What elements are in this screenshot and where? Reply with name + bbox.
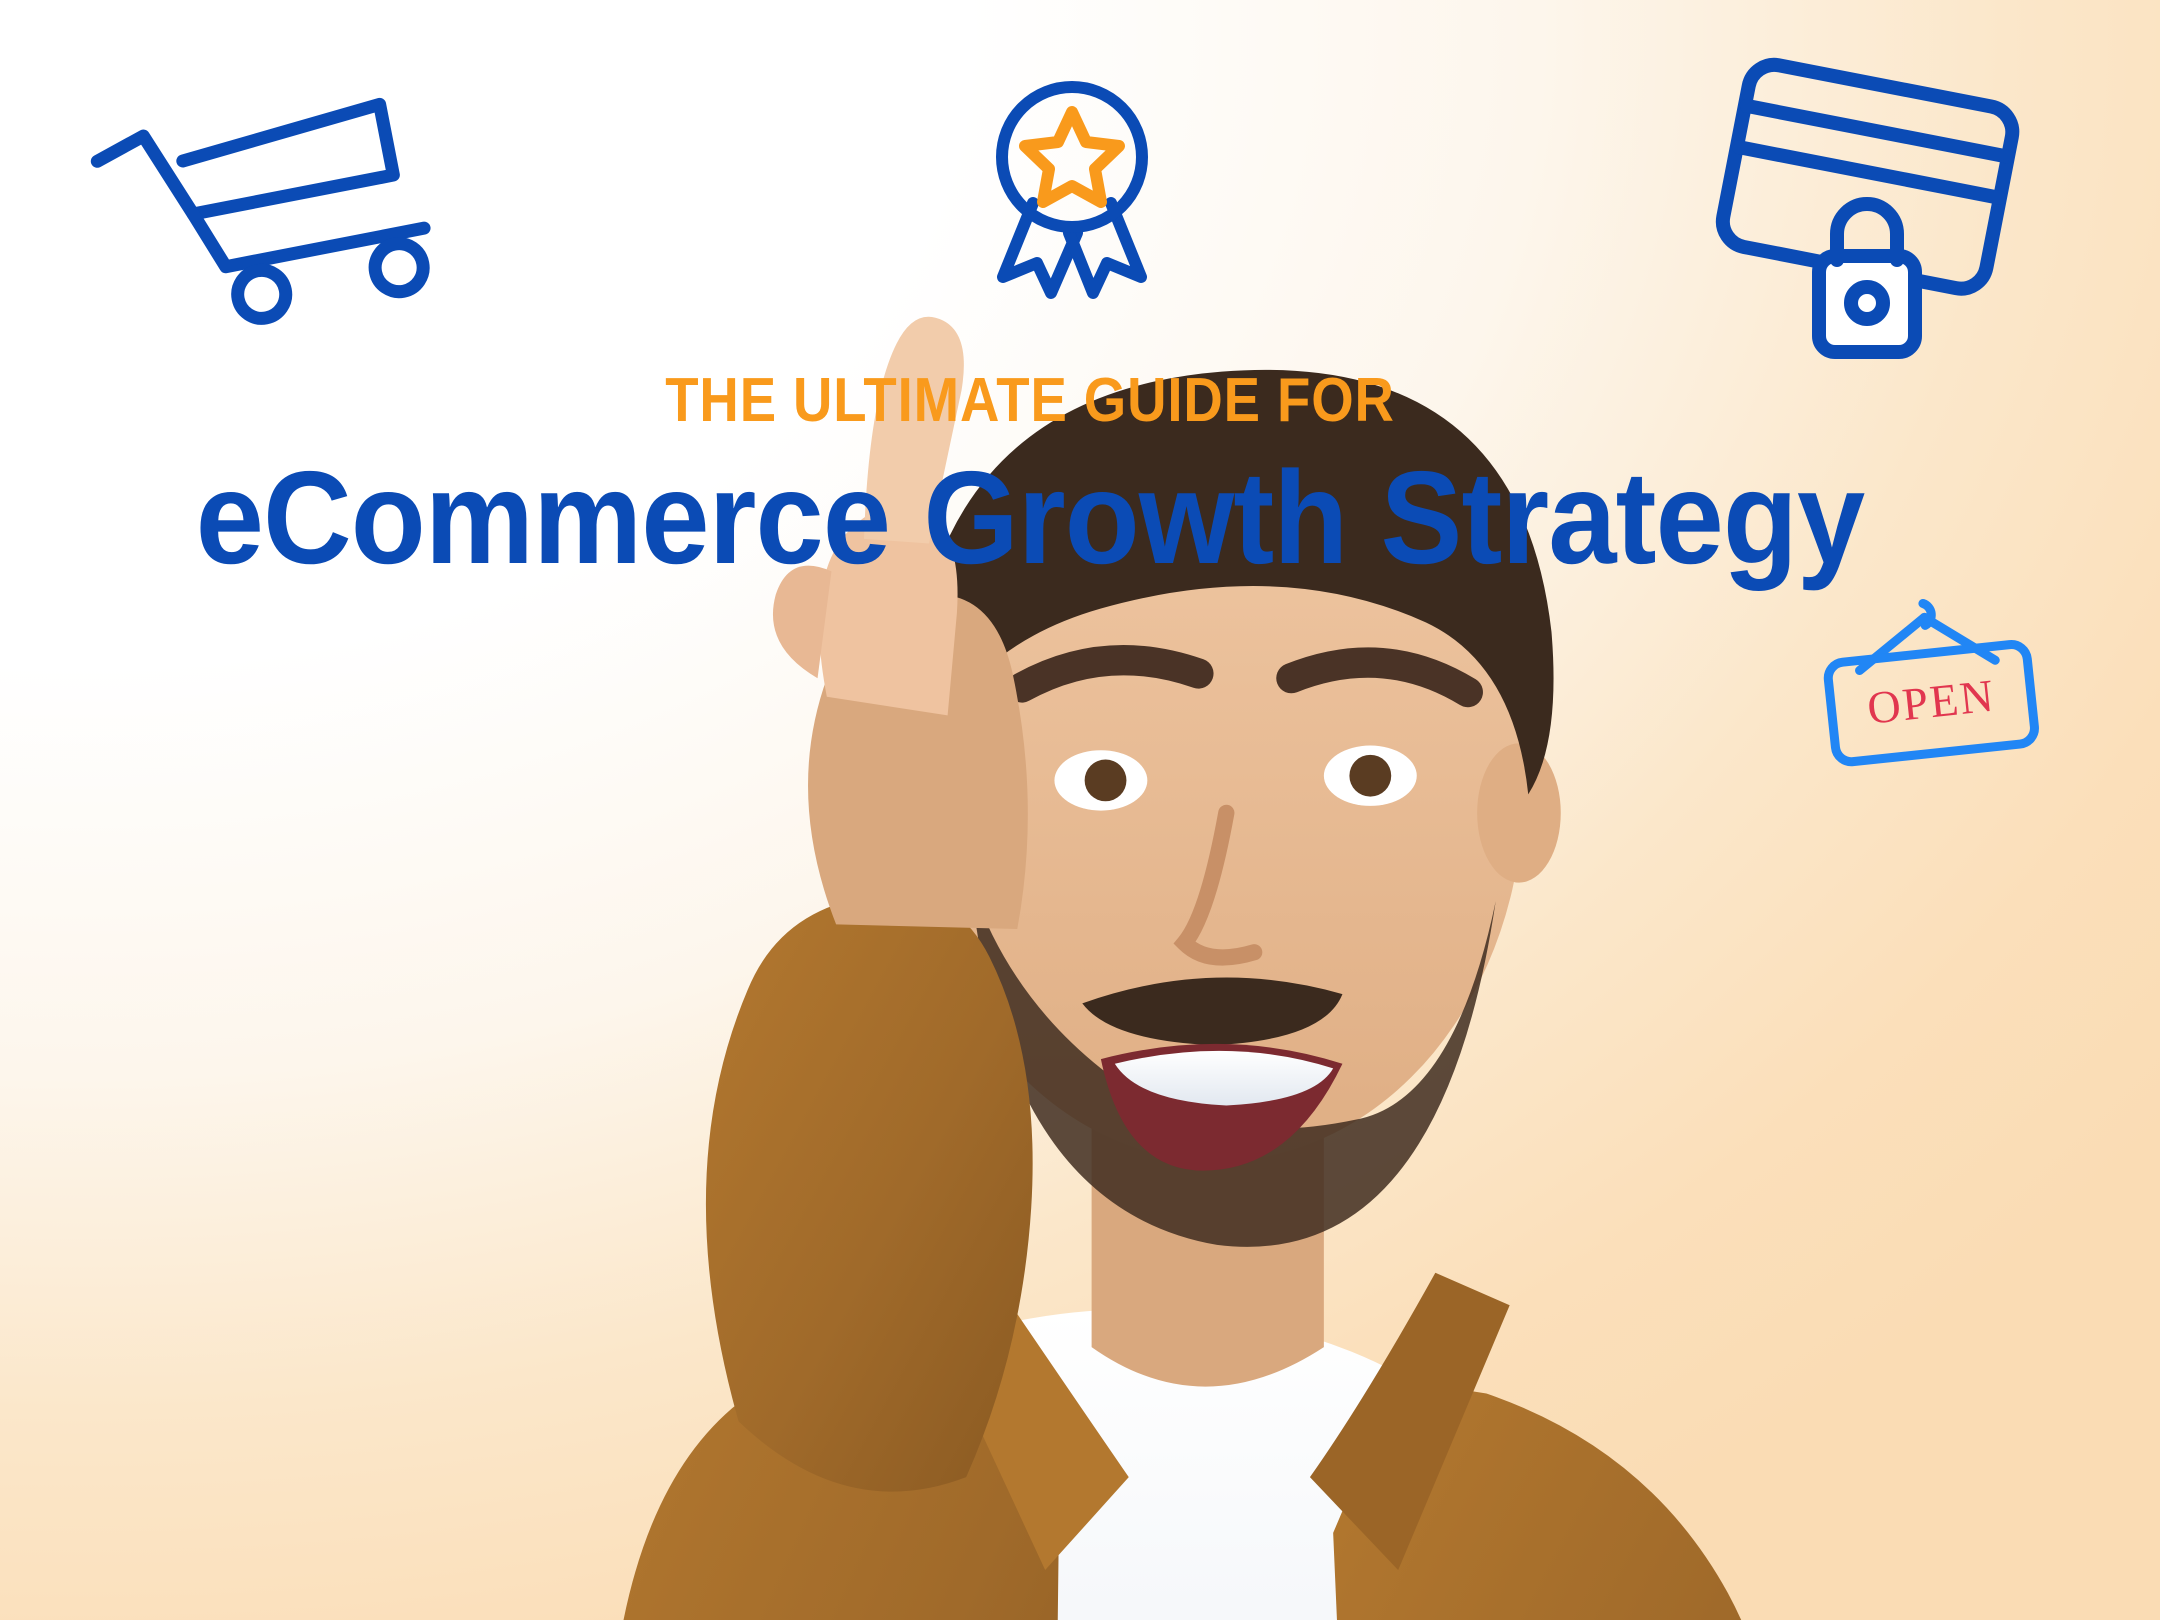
- open-sign-icon: OPEN: [1820, 595, 2045, 765]
- raised-arm-sleeve: [706, 894, 1033, 1491]
- index-finger: [864, 317, 964, 544]
- hero-banner: OPEN: [0, 0, 2160, 1620]
- secure-credit-card-icon: [1715, 60, 2015, 380]
- award-badge-icon: [985, 65, 1160, 295]
- open-sign-text: OPEN: [1865, 670, 1998, 734]
